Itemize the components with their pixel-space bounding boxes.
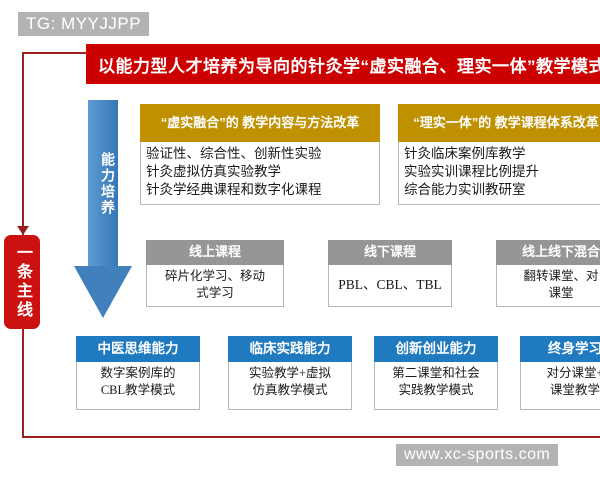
card-lifelong-learning-ability: 终身学习 对分课堂+ 课堂教学 [520,336,600,410]
watermark-top-left: TG: MYYJJPP [18,12,149,36]
card-offline-course: 线下课程 PBL、CBL、TBL [328,240,452,307]
card-curriculum-system-reform: “理实一体”的 教学课程体系改革 针灸临床案例库教学 实验实训课程比例提升 综合… [398,104,600,205]
card-header: 线上线下混合 [496,240,600,265]
main-line-tag: 一条主线 [4,235,40,329]
card-header: 临床实践能力 [228,336,352,362]
card-header: 创新创业能力 [374,336,498,362]
card-header: 中医思维能力 [76,336,200,362]
card-body: 第二课堂和社会 实践教学模式 [374,362,498,410]
watermark-bottom-right: www.xc-sports.com [396,444,558,466]
diagram-canvas: 以能力型人才培养为导向的针灸学“虚实融合、理实一体”教学模式改 一条主线 能力培… [0,0,600,480]
card-content-method-reform: “虚实融合”的 教学内容与方法改革 验证性、综合性、创新性实验 针灸虚拟仿真实验… [140,104,380,205]
card-header: 终身学习 [520,336,600,362]
card-innovation-entrepreneurship-ability: 创新创业能力 第二课堂和社会 实践教学模式 [374,336,498,410]
card-header: 线上课程 [146,240,284,265]
card-body: 实验教学+虚拟 仿真教学模式 [228,362,352,410]
card-body: 翻转课堂、对 课堂 [496,265,600,307]
main-line-arrowhead-icon [17,226,29,235]
card-clinical-practice-ability: 临床实践能力 实验教学+虚拟 仿真教学模式 [228,336,352,410]
card-online-course: 线上课程 碎片化学习、移动 式学习 [146,240,284,307]
main-line-bottom-segment [22,436,600,438]
card-body: PBL、CBL、TBL [328,265,452,307]
card-tcm-thinking-ability: 中医思维能力 数字案例库的 CBL教学模式 [76,336,200,410]
ability-training-arrow: 能力培养 [74,100,132,318]
card-body: 验证性、综合性、创新性实验 针灸虚拟仿真实验教学 针灸学经典课程和数字化课程 [140,142,380,205]
card-blended-course: 线上线下混合 翻转课堂、对 课堂 [496,240,600,307]
card-header: “理实一体”的 教学课程体系改革 [398,104,600,142]
card-header: “虚实融合”的 教学内容与方法改革 [140,104,380,142]
card-body: 数字案例库的 CBL教学模式 [76,362,200,410]
card-header: 线下课程 [328,240,452,265]
page-title: 以能力型人才培养为导向的针灸学“虚实融合、理实一体”教学模式改 [86,44,600,84]
arrow-down-icon [74,266,132,318]
card-body: 碎片化学习、移动 式学习 [146,265,284,307]
card-body: 针灸临床案例库教学 实验实训课程比例提升 综合能力实训教研室 [398,142,600,205]
card-body: 对分课堂+ 课堂教学 [520,362,600,410]
ability-arrow-label: 能力培养 [88,152,118,216]
